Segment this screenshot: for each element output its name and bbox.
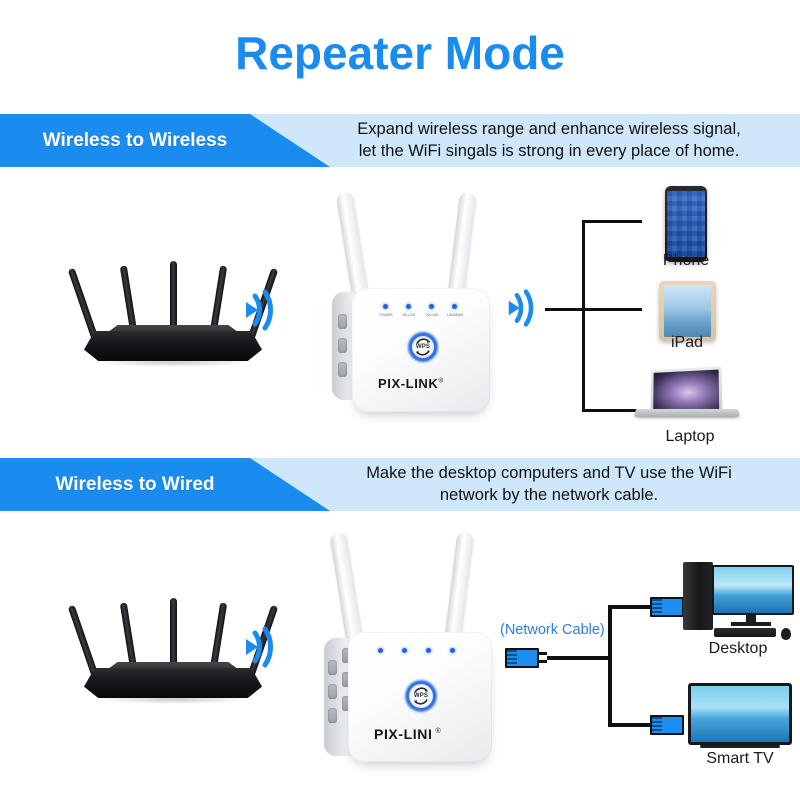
desktop-monitor-icon — [712, 565, 794, 615]
client-label-ipad: iPad — [671, 334, 703, 352]
client-label-smart-tv: Smart TV — [706, 750, 773, 768]
desktop-monitor-screen — [714, 567, 792, 613]
led-label-2g: 2G-LED — [426, 313, 439, 317]
led-label-5g: 5G-LED — [403, 313, 416, 317]
rj45-pin — [538, 660, 547, 663]
monitor-stand-base — [731, 622, 771, 626]
connection-line-branch-phone — [582, 220, 642, 223]
cable-line-vertical — [608, 605, 612, 727]
laptop-lid — [650, 366, 722, 413]
rj45-pin — [538, 652, 547, 655]
connection-line-branch-laptop — [582, 409, 642, 412]
repeater-vent-slot — [328, 684, 337, 699]
section-description-1: Expand wireless range and enhance wirele… — [300, 114, 798, 167]
section-banner-wireless-to-wireless: Wireless to Wireless Expand wireless ran… — [0, 114, 800, 167]
router-antenna — [68, 605, 98, 675]
led-lan-wan — [450, 648, 455, 653]
phone-screen — [667, 191, 705, 257]
connection-line-branch-ipad — [582, 308, 642, 311]
client-label-laptop: Laptop — [666, 428, 715, 446]
repeater-vent-slot — [338, 362, 347, 377]
section-desc-2-line1: Make the desktop computers and TV use th… — [366, 463, 732, 484]
mouse-icon — [781, 628, 791, 640]
repeater-vent-slot — [328, 708, 337, 723]
router-shadow — [92, 358, 254, 367]
infographic-page: Repeater Mode Wireless to Wireless Expan… — [0, 0, 800, 800]
page-title: Repeater Mode — [0, 28, 800, 79]
wps-label-2: WPS — [414, 693, 428, 699]
led-2g — [429, 304, 434, 309]
smart-tv-screen — [691, 686, 789, 742]
rj45-grip — [652, 599, 662, 615]
rj45-grip — [507, 650, 517, 666]
laptop-base — [634, 409, 740, 417]
smart-tv-icon — [688, 683, 792, 745]
led-5g — [402, 648, 407, 653]
network-cable-label: (Network Cable) — [500, 622, 605, 638]
repeater-brand-text-2: PIX-LINI — [374, 726, 432, 742]
section-desc-1-line1: Expand wireless range and enhance wirele… — [357, 119, 740, 140]
wifi-signal-icon-repeater-1 — [506, 288, 546, 333]
wps-button-1[interactable]: WPS — [405, 329, 441, 365]
led-power — [383, 304, 388, 309]
cable-line-branch-tv — [608, 723, 656, 727]
connection-line-trunk-h — [545, 308, 585, 311]
led-5g — [406, 304, 411, 309]
repeater-brand-2: PIX-LINI® — [374, 726, 441, 742]
ipad-screen — [664, 285, 711, 337]
keyboard-icon — [714, 628, 776, 637]
led-label-lan-wan: LAN/WAN — [447, 313, 463, 317]
section-desc-1-line2: let the WiFi singals is strong in every … — [359, 141, 740, 162]
router-base — [84, 331, 262, 361]
repeater-vent-slot — [338, 338, 347, 353]
repeater-vent-slot — [338, 314, 347, 329]
led-power — [378, 648, 383, 653]
repeater-brand-text-1: PIX-LINK — [378, 376, 438, 391]
cable-line-main — [547, 656, 612, 660]
repeater-vent-slot — [328, 660, 337, 675]
wps-label-1: WPS — [416, 344, 430, 350]
desktop-tower-icon — [683, 562, 713, 630]
phone-icon — [665, 186, 707, 262]
section-banner-wireless-to-wired: Wireless to Wired Make the desktop compu… — [0, 458, 800, 511]
led-2g — [426, 648, 431, 653]
connection-line-trunk-v — [582, 220, 585, 412]
section-label-2: Wireless to Wired — [0, 458, 270, 511]
registered-mark-2: ® — [435, 728, 441, 735]
rj45-connector-tv — [650, 715, 684, 735]
tv-stand — [700, 745, 780, 748]
repeater-device-2: WPS PIX-LINI® — [322, 532, 512, 772]
repeater-brand-1: PIX-LINK® — [378, 376, 444, 391]
wps-button-2[interactable]: WPS — [402, 677, 440, 715]
section-desc-2-line2: network by the network cable. — [440, 485, 658, 506]
wifi-signal-icon-router-2 — [243, 625, 287, 674]
router-base — [84, 668, 262, 698]
client-label-phone: Phone — [663, 252, 709, 270]
router-antenna — [68, 268, 98, 338]
ipad-icon — [659, 281, 716, 341]
rj45-connector-source — [505, 648, 539, 668]
registered-mark-1: ® — [438, 378, 443, 385]
wifi-signal-icon-router-1 — [243, 288, 287, 337]
led-lan-wan — [452, 304, 457, 309]
repeater-device-1: POWER 5G-LED 2G-LED LAN/WAN WPS PIX-LINK… — [330, 192, 510, 422]
section-description-2: Make the desktop computers and TV use th… — [300, 458, 798, 511]
client-label-desktop: Desktop — [709, 640, 768, 658]
led-label-power: POWER — [379, 313, 392, 317]
rj45-connector-desktop — [650, 597, 684, 617]
section-label-1: Wireless to Wireless — [0, 114, 270, 167]
cable-line-branch-desktop — [608, 605, 656, 609]
wifi-router-icon-1 — [78, 255, 268, 365]
rj45-grip — [652, 717, 662, 733]
laptop-screen — [653, 370, 719, 411]
wifi-router-icon-2 — [78, 592, 268, 702]
router-shadow — [92, 695, 254, 704]
